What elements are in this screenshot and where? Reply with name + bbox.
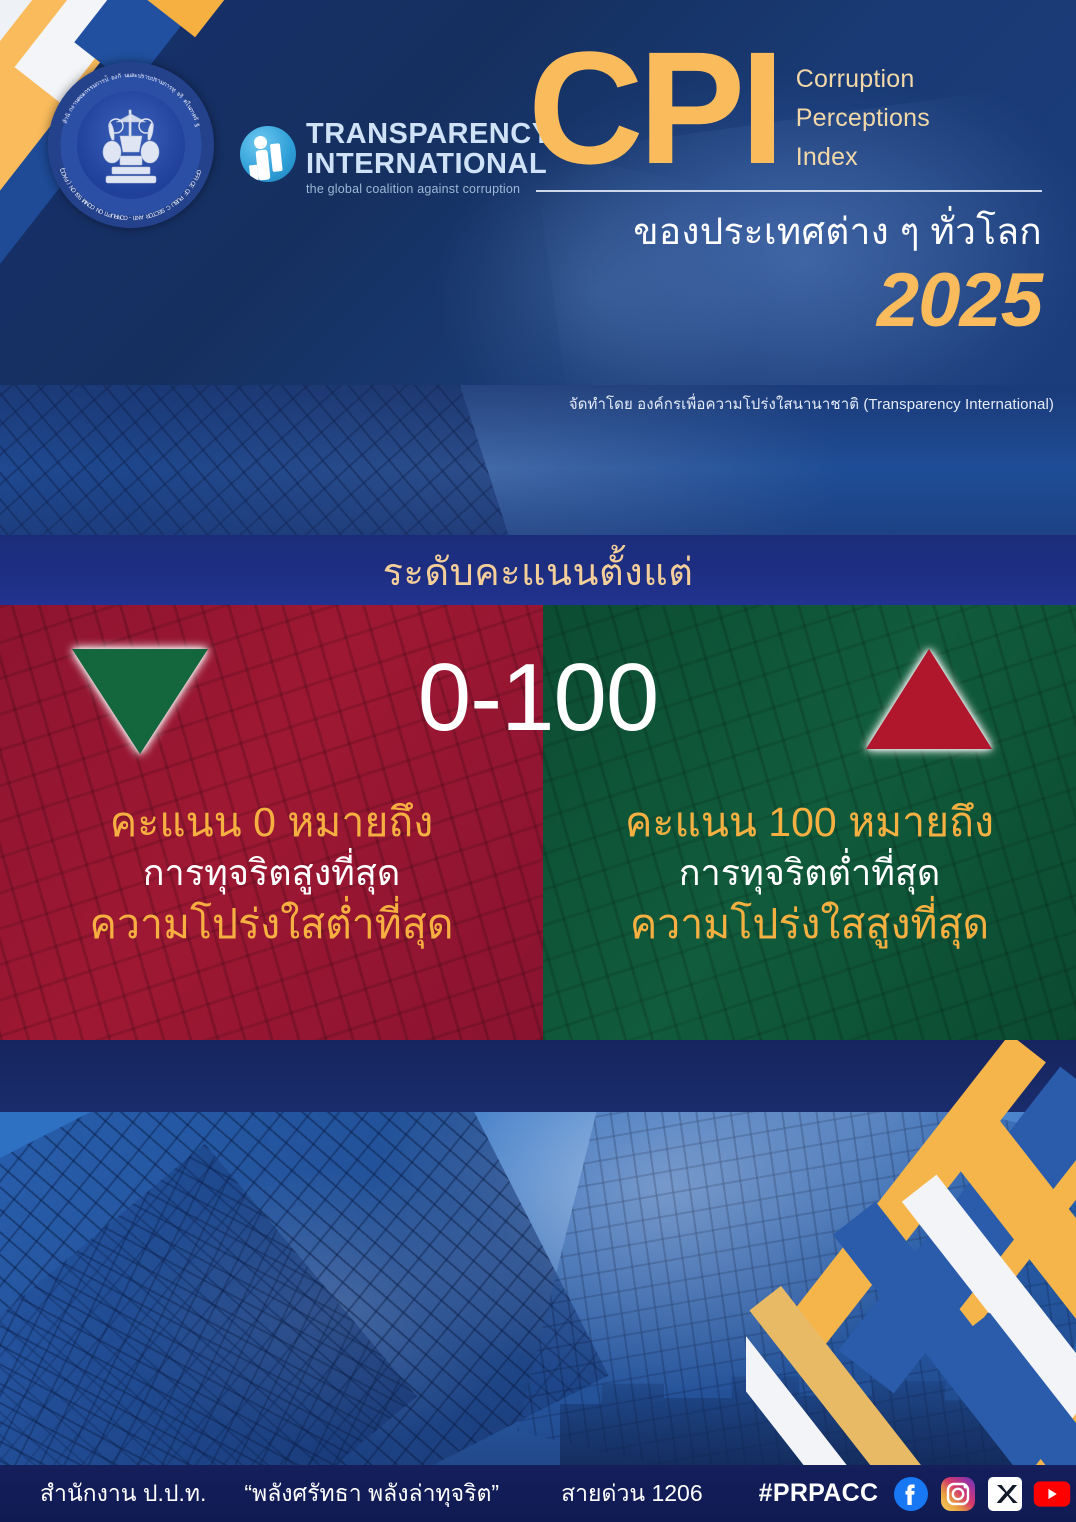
score-range-value: 0-100 [0, 643, 1076, 753]
score-meaning-panels: คะแนน 0 หมายถึง การทุจริตสูงที่สุด ความโ… [0, 605, 1076, 1040]
cpi-word-index: Index [796, 138, 930, 177]
instagram-icon[interactable] [939, 1475, 977, 1513]
x-twitter-icon[interactable] [986, 1475, 1024, 1513]
ti-tagline: the global coalition against corruption [306, 182, 552, 196]
cpi-acronym: CPI [528, 42, 780, 173]
cpi-expansion: Corruption Perceptions Index [796, 42, 930, 176]
panel-highest-headline: คะแนน 100 หมายถึง [557, 795, 1062, 849]
ti-line-2: INTERNATIONAL [306, 150, 552, 180]
footer-organization: สำนักงาน ป.ป.ท. [40, 1476, 206, 1512]
ti-globe-icon [240, 126, 296, 182]
transparency-international-logo: TRANSPARENCY INTERNATIONAL the global co… [240, 118, 525, 196]
poster-header: สำนักงานคณะกรรมการป้องกันและปราบปรามการท… [0, 0, 1076, 385]
seal-inner-disc [77, 91, 185, 199]
panel-highest-line3: ความโปร่งใสสูงที่สุด [557, 897, 1062, 952]
panel-lowest-line3: ความโปร่งใสต่ำที่สุด [14, 897, 529, 952]
panel-highest-text: คะแนน 100 หมายถึง การทุจริตต่ำที่สุด ควา… [543, 795, 1076, 952]
score-range-banner-text: ระดับคะแนนตั้งแต่ [383, 541, 694, 602]
ti-wordmark: TRANSPARENCY INTERNATIONAL the global co… [306, 120, 552, 196]
footer-hashtag: #PRPACC [759, 1479, 879, 1508]
pacc-seal-logo: สำนักงานคณะกรรมการป้องกันและปราบปรามการท… [48, 62, 214, 228]
cpi-title-row: CPI Corruption Perceptions Index [528, 42, 1048, 176]
footer-slogan: “พลังศรัทธา พลังล่าทุจริต” [244, 1476, 499, 1512]
cpi-title-block: CPI Corruption Perceptions Index ของประเ… [528, 42, 1048, 339]
poster-footer: สำนักงาน ป.ป.ท. “พลังศรัทธา พลังล่าทุจริ… [0, 1465, 1076, 1522]
panel-lowest-text: คะแนน 0 หมายถึง การทุจริตสูงที่สุด ความโ… [0, 795, 543, 952]
footer-hotline: สายด่วน 1206 [561, 1476, 703, 1512]
footer-social-links [892, 1475, 1071, 1513]
panel-highest-line2: การทุจริตต่ำที่สุด [557, 849, 1062, 897]
panel-lowest-headline: คะแนน 0 หมายถึง [14, 795, 529, 849]
cpi-word-corruption: Corruption [796, 60, 930, 99]
decor-diagonal-orange-3 [146, 0, 380, 37]
decor-chevron-cluster [746, 1040, 1076, 1470]
panel-lowest-line2: การทุจริตสูงที่สุด [14, 849, 529, 897]
facebook-icon[interactable] [892, 1475, 930, 1513]
credit-line: จัดทำโดย องค์กรเพื่อความโปร่งใสนานาชาติ … [569, 392, 1054, 416]
ti-line-1: TRANSPARENCY [306, 120, 552, 150]
seal-emblem-icon [92, 104, 170, 186]
cpi-word-perceptions: Perceptions [796, 99, 930, 138]
youtube-icon[interactable] [1033, 1475, 1071, 1513]
cpi-subtitle: ของประเทศต่าง ๆ ทั่วโลก [528, 202, 1048, 261]
score-range-banner: ระดับคะแนนตั้งแต่ [0, 535, 1076, 607]
cpi-year: 2025 [528, 263, 1048, 339]
cpi-infographic-poster: สำนักงานคณะกรรมการป้องกันและปราบปรามการท… [0, 0, 1076, 1522]
